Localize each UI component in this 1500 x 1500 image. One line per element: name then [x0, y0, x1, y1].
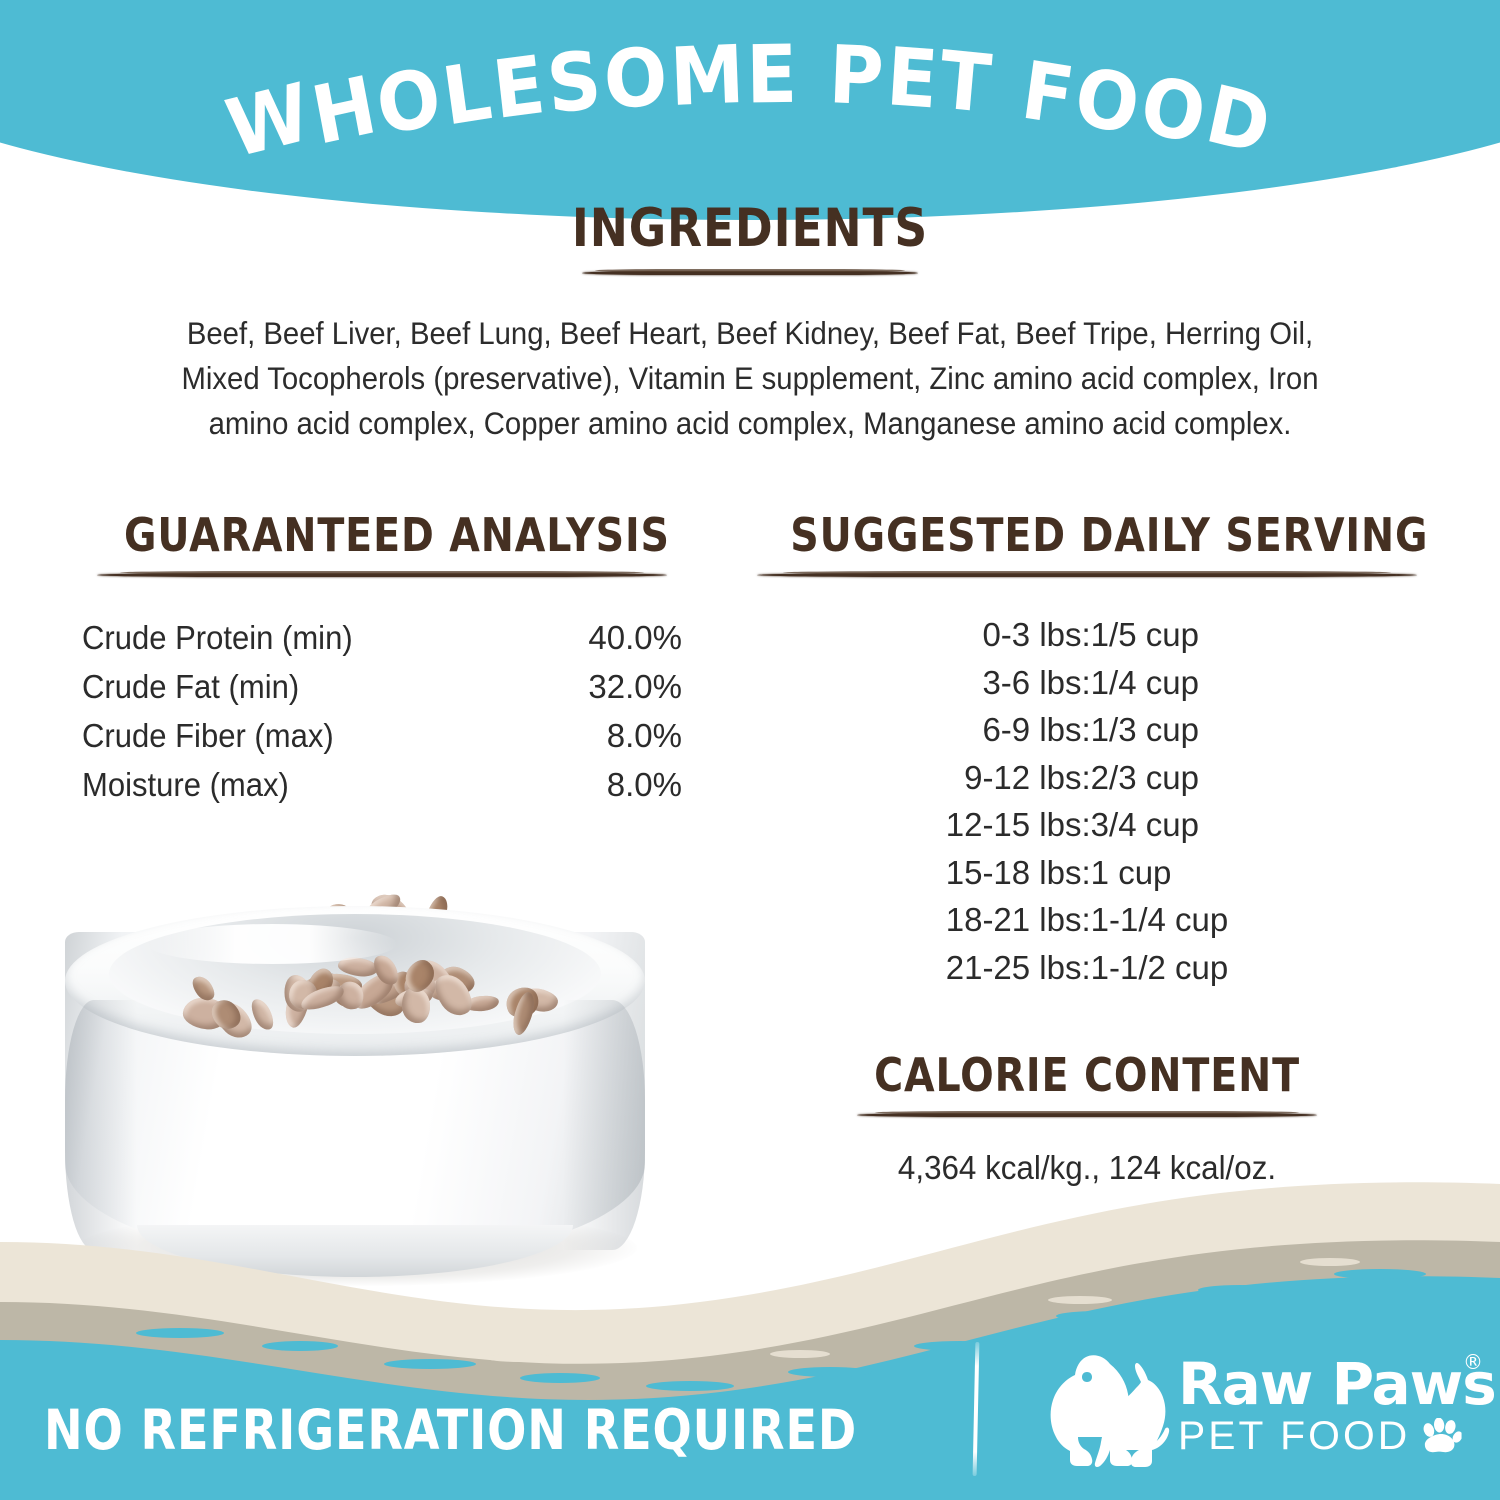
serving-weight: 12-15 lbs:	[946, 801, 1091, 849]
serving-weight: 6-9 lbs:	[946, 706, 1091, 754]
logo-brand-name: Raw Paws®	[1178, 1354, 1460, 1414]
serving-row: 9-12 lbs:2/3 cup	[946, 754, 1229, 802]
serving-amount: 1/4 cup	[1091, 659, 1229, 707]
serving-weight: 18-21 lbs:	[946, 896, 1091, 944]
guaranteed-analysis-value: 8.0%	[512, 760, 682, 809]
dog-and-cat-silhouette-icon	[1040, 1352, 1172, 1470]
page-title: WHOLESOME PET FOOD	[53, 28, 1448, 121]
guaranteed-analysis-heading-rule	[97, 570, 667, 579]
guaranteed-analysis-label: Crude Protein (min)	[82, 613, 486, 662]
logo-brand-text: Raw Paws	[1178, 1350, 1496, 1418]
guaranteed-analysis-label: Crude Fat (min)	[82, 662, 486, 711]
guaranteed-analysis-label: Crude Fiber (max)	[82, 711, 486, 760]
serving-weight: 9-12 lbs:	[946, 754, 1091, 802]
no-refrigeration-claim: NO REFRIGERATION REQUIRED	[44, 1398, 857, 1462]
ingredients-section: INGREDIENTS Beef, Beef Liver, Beef Lung,…	[0, 198, 1500, 446]
serving-amount: 1 cup	[1091, 849, 1229, 897]
serving-row: 15-18 lbs:1 cup	[946, 849, 1229, 897]
serving-amount: 2/3 cup	[1091, 754, 1229, 802]
bowl-rim-highlight	[147, 924, 397, 964]
suggested-daily-serving-table: 0-3 lbs:1/5 cup3-6 lbs:1/4 cup6-9 lbs:1/…	[946, 611, 1229, 991]
serving-row: 12-15 lbs:3/4 cup	[946, 801, 1229, 849]
header-banner: WHOLESOME PET FOOD	[0, 0, 1500, 230]
serving-weight: 3-6 lbs:	[946, 659, 1091, 707]
page-title-char: O	[601, 30, 673, 128]
serving-amount: 1/5 cup	[1091, 611, 1229, 659]
guaranteed-analysis-value: 8.0%	[512, 711, 682, 760]
serving-amount: 1/3 cup	[1091, 706, 1229, 754]
serving-weight: 15-18 lbs:	[946, 849, 1091, 897]
guaranteed-analysis-value: 40.0%	[512, 613, 682, 662]
logo-subtitle: PET FOOD	[1178, 1414, 1466, 1458]
page-title-char: E	[489, 38, 553, 137]
serving-amount: 3/4 cup	[1091, 801, 1229, 849]
calorie-content-heading: CALORIE CONTENT	[790, 1048, 1383, 1102]
suggested-daily-serving-heading: SUGGESTED DAILY SERVING	[790, 508, 1383, 562]
calorie-content-heading-rule	[857, 1110, 1317, 1119]
serving-weight: 21-25 lbs:	[946, 944, 1091, 992]
page-title-char: M	[668, 28, 748, 124]
guaranteed-analysis-value: 32.0%	[512, 662, 682, 711]
serving-row: 6-9 lbs:1/3 cup	[946, 706, 1229, 754]
guaranteed-analysis-section: GUARANTEED ANALYSIS Crude Protein (min)4…	[82, 508, 682, 809]
guaranteed-analysis-label: Moisture (max)	[82, 760, 486, 809]
guaranteed-analysis-row: Crude Protein (min)40.0%	[82, 613, 682, 662]
serving-row: 3-6 lbs:1/4 cup	[946, 659, 1229, 707]
guaranteed-analysis-row: Crude Fat (min)32.0%	[82, 662, 682, 711]
page-title-char: T	[936, 33, 997, 131]
guaranteed-analysis-heading: GUARANTEED ANALYSIS	[124, 508, 640, 562]
page-title-char	[800, 28, 830, 121]
paw-print-icon	[1420, 1418, 1461, 1454]
page-title-char: E	[746, 28, 801, 122]
registered-trademark-icon: ®	[1463, 1352, 1482, 1372]
guaranteed-analysis-table: Crude Protein (min)40.0%Crude Fat (min)3…	[82, 613, 682, 809]
ingredients-heading-rule	[582, 268, 918, 277]
guaranteed-analysis-row: Crude Fiber (max)8.0%	[82, 711, 682, 760]
logo-wordmark: Raw Paws® PET FOOD	[1178, 1354, 1460, 1458]
guaranteed-analysis-row: Moisture (max)8.0%	[82, 760, 682, 809]
serving-row: 21-25 lbs:1-1/2 cup	[946, 944, 1229, 992]
ingredients-heading: INGREDIENTS	[105, 198, 1395, 259]
brand-logo[interactable]: Raw Paws® PET FOOD	[1040, 1352, 1460, 1478]
page-title-char: S	[543, 33, 607, 131]
suggested-daily-serving-section: SUGGESTED DAILY SERVING 0-3 lbs:1/5 cup3…	[742, 508, 1432, 991]
page-title-char: E	[883, 30, 942, 127]
suggested-daily-serving-heading-rule	[757, 570, 1417, 579]
serving-row: 18-21 lbs:1-1/4 cup	[946, 896, 1229, 944]
serving-row: 0-3 lbs:1/5 cup	[946, 611, 1229, 659]
page-title-char: P	[827, 28, 888, 123]
serving-amount: 1-1/2 cup	[1091, 944, 1229, 992]
serving-weight: 0-3 lbs:	[946, 611, 1091, 659]
ingredients-body: Beef, Beef Liver, Beef Lung, Beef Heart,…	[150, 311, 1350, 446]
serving-amount: 1-1/4 cup	[1091, 896, 1229, 944]
logo-subtitle-text: PET FOOD	[1178, 1414, 1410, 1458]
kibble-pile-front	[170, 888, 570, 1038]
